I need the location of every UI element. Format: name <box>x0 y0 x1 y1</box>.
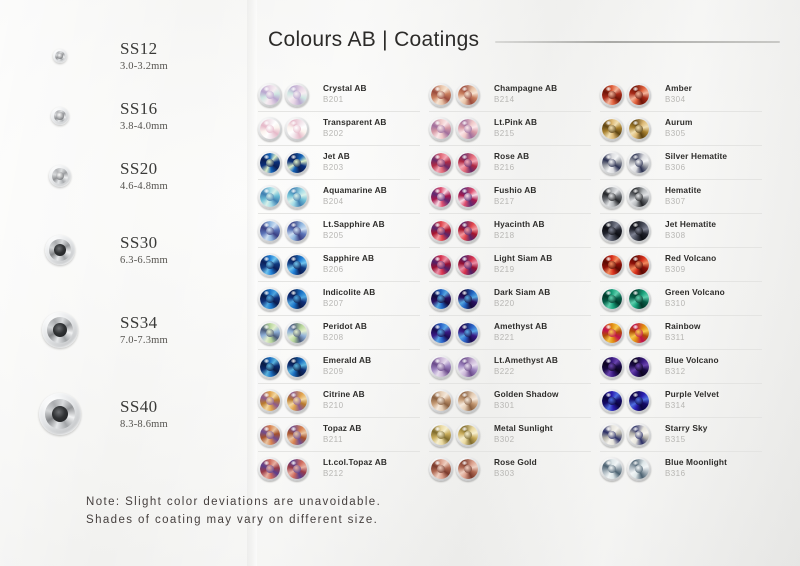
colour-labels: Blue MoonlightB316 <box>658 458 762 479</box>
colour-row[interactable]: Lt.Amethyst ABB222 <box>429 350 591 384</box>
colour-code: B308 <box>665 231 762 241</box>
gem-table <box>635 431 643 439</box>
gem-face <box>458 187 478 207</box>
colour-swatch-gem <box>600 321 624 345</box>
size-dimension: 8.3-8.6mm <box>120 419 168 430</box>
colour-row[interactable]: Aquamarine ABB204 <box>258 180 420 214</box>
colour-name: Aquamarine AB <box>323 186 420 196</box>
colour-labels: Green VolcanoB310 <box>658 288 762 309</box>
gem-face <box>260 85 280 105</box>
gem-table <box>293 193 301 201</box>
colour-labels: Light Siam ABB219 <box>487 254 591 275</box>
gem-pair <box>429 151 487 175</box>
gem-pair <box>600 83 658 107</box>
gem-table <box>437 329 445 337</box>
colour-row[interactable]: Lt.Pink ABB215 <box>429 112 591 146</box>
gem-face <box>602 357 622 377</box>
colour-labels: Silver HematiteB306 <box>658 152 762 173</box>
gem-pair <box>258 389 316 413</box>
colour-labels: Emerald ABB209 <box>316 356 420 377</box>
colour-row[interactable]: Rose GoldB303 <box>429 452 591 485</box>
gem-pair <box>258 219 316 243</box>
colour-labels: Dark Siam ABB220 <box>487 288 591 309</box>
colour-code: B316 <box>665 469 762 479</box>
gem-face <box>458 289 478 309</box>
colour-name: Citrine AB <box>323 390 420 400</box>
gem-table <box>608 363 616 371</box>
colour-swatch-gem <box>258 355 282 379</box>
colour-labels: Lt.col.Topaz ABB212 <box>316 458 420 479</box>
gem-face <box>602 323 622 343</box>
gem-table <box>608 431 616 439</box>
colour-swatch-gem <box>285 355 309 379</box>
colour-swatch-gem <box>429 219 453 243</box>
gem-face <box>602 391 622 411</box>
size-text-block: SS347.0-7.3mm <box>120 314 168 346</box>
gem-face <box>260 391 280 411</box>
gem-pair <box>258 117 316 141</box>
colour-swatch-gem <box>600 253 624 277</box>
colour-name: Peridot AB <box>323 322 420 332</box>
colour-code: B211 <box>323 435 420 445</box>
colour-row[interactable]: HematiteB307 <box>600 180 762 214</box>
gem-pair <box>258 287 316 311</box>
colour-labels: Amethyst ABB221 <box>487 322 591 343</box>
colour-swatch-gem <box>258 151 282 175</box>
colour-name: Light Siam AB <box>494 254 591 264</box>
gem-table <box>608 295 616 303</box>
colour-labels: AurumB305 <box>658 118 762 139</box>
gem-table <box>635 193 643 201</box>
colour-labels: Fushio ABB217 <box>487 186 591 207</box>
gem-table <box>635 125 643 133</box>
colour-columns: Crystal ABB201Transparent ABB202Jet ABB2… <box>258 78 800 485</box>
gem-face <box>602 289 622 309</box>
colour-code: B315 <box>665 435 762 445</box>
colour-code: B311 <box>665 333 762 343</box>
gem-table <box>608 227 616 235</box>
colour-name: Lt.Sapphire AB <box>323 220 420 230</box>
colour-swatch-gem <box>285 83 309 107</box>
colour-code: B214 <box>494 95 591 105</box>
gem-table <box>293 329 301 337</box>
colour-swatch-gem <box>285 253 309 277</box>
colour-swatch-gem <box>627 117 651 141</box>
gem-face <box>602 221 622 241</box>
gem-table <box>437 193 445 201</box>
colour-code: B303 <box>494 469 591 479</box>
gem-table <box>266 363 274 371</box>
colour-name: Crystal AB <box>323 84 420 94</box>
colour-name: Lt.Amethyst AB <box>494 356 591 366</box>
colour-name: Dark Siam AB <box>494 288 591 298</box>
gem-face <box>458 85 478 105</box>
gem-table <box>608 465 616 473</box>
gem-face <box>629 289 649 309</box>
gem-table <box>437 431 445 439</box>
size-name: SS12 <box>120 40 168 59</box>
colour-swatch-gem <box>258 389 282 413</box>
gem-face <box>629 85 649 105</box>
gem-face <box>629 153 649 173</box>
colour-row[interactable]: Jet HematiteB308 <box>600 214 762 248</box>
gem-table <box>293 465 301 473</box>
rhinestone-icon <box>42 312 78 348</box>
colour-row[interactable]: Starry SkyB315 <box>600 418 762 452</box>
gem-table <box>464 159 472 167</box>
colour-labels: Starry SkyB315 <box>658 424 762 445</box>
gem-table <box>293 295 301 303</box>
colour-swatch-gem <box>285 457 309 481</box>
colour-name: Hyacinth AB <box>494 220 591 230</box>
colour-row[interactable]: Light Siam ABB219 <box>429 248 591 282</box>
colour-swatch-gem <box>456 117 480 141</box>
gem-table <box>635 159 643 167</box>
gem-table <box>293 397 301 405</box>
gem-pair <box>429 83 487 107</box>
colour-row[interactable]: Rose ABB216 <box>429 146 591 180</box>
colour-row[interactable]: Red VolcanoB309 <box>600 248 762 282</box>
colour-code: B217 <box>494 197 591 207</box>
colour-swatch-gem <box>600 185 624 209</box>
gem-table <box>437 261 445 269</box>
colour-swatch-gem <box>627 185 651 209</box>
colour-swatch-gem <box>258 287 282 311</box>
gem-face <box>458 323 478 343</box>
colour-code: B310 <box>665 299 762 309</box>
gem-pair <box>258 457 316 481</box>
colour-name: Rose AB <box>494 152 591 162</box>
colour-swatch-gem <box>429 117 453 141</box>
gem-face <box>602 85 622 105</box>
gem-face <box>629 255 649 275</box>
colour-labels: Golden ShadowB301 <box>487 390 591 411</box>
colour-swatch-gem <box>456 83 480 107</box>
gem-face <box>431 119 451 139</box>
gem-pair <box>429 423 487 447</box>
colour-labels: Lt.Sapphire ABB205 <box>316 220 420 241</box>
colour-name: Emerald AB <box>323 356 420 366</box>
gem-face <box>287 357 307 377</box>
gem-face <box>431 357 451 377</box>
gem-pair <box>258 355 316 379</box>
colour-swatch-gem <box>285 151 309 175</box>
colour-row[interactable]: Purple VelvetB314 <box>600 384 762 418</box>
colour-code: B220 <box>494 299 591 309</box>
gem-table <box>464 397 472 405</box>
page-title: Colours AB | Coatings <box>268 28 479 52</box>
gem-table <box>437 159 445 167</box>
colour-row[interactable]: Sapphire ABB206 <box>258 248 420 282</box>
colour-code: B314 <box>665 401 762 411</box>
colour-row[interactable]: Indicolite ABB207 <box>258 282 420 316</box>
gem-table <box>608 397 616 405</box>
gem-face <box>629 187 649 207</box>
gem-table <box>608 329 616 337</box>
colour-code: B202 <box>323 129 420 139</box>
colour-name: Metal Sunlight <box>494 424 591 434</box>
colour-row[interactable]: Hyacinth ABB218 <box>429 214 591 248</box>
colour-name: Silver Hematite <box>665 152 762 162</box>
colour-code: B206 <box>323 265 420 275</box>
gem-pair <box>429 321 487 345</box>
colour-swatch-gem <box>429 423 453 447</box>
gem-table <box>266 193 274 201</box>
colour-swatch-gem <box>258 219 282 243</box>
colour-labels: Rose ABB216 <box>487 152 591 173</box>
gem-pair <box>258 321 316 345</box>
gem-face <box>458 357 478 377</box>
colour-swatch-gem <box>456 287 480 311</box>
colour-swatch-gem <box>429 287 453 311</box>
gem-face <box>602 255 622 275</box>
gem-table <box>266 397 274 405</box>
colour-row[interactable]: Golden ShadowB301 <box>429 384 591 418</box>
gem-face <box>431 221 451 241</box>
colour-row[interactable]: Lt.Sapphire ABB205 <box>258 214 420 248</box>
size-name: SS20 <box>120 160 168 179</box>
size-reference-panel: SS123.0-3.2mmSS163.8-4.0mmSS204.6-4.8mmS… <box>0 0 248 566</box>
gem-pair <box>429 287 487 311</box>
colour-row[interactable]: AurumB305 <box>600 112 762 146</box>
gem-table <box>635 329 643 337</box>
gem-table <box>635 91 643 99</box>
gem-face <box>629 391 649 411</box>
colour-swatch-gem <box>285 219 309 243</box>
gem-table <box>266 295 274 303</box>
gem-face <box>287 425 307 445</box>
colour-row[interactable]: Peridot ABB208 <box>258 316 420 350</box>
title-rule <box>495 41 780 43</box>
gem-face <box>287 221 307 241</box>
gem-face <box>260 289 280 309</box>
colour-swatch-gem <box>627 389 651 413</box>
product-sheet: SS123.0-3.2mmSS163.8-4.0mmSS204.6-4.8mmS… <box>0 0 800 566</box>
gem-table <box>464 465 472 473</box>
gem-table <box>608 261 616 269</box>
colour-swatch-gem <box>627 457 651 481</box>
colour-row[interactable]: Blue MoonlightB316 <box>600 452 762 485</box>
gem-table <box>437 227 445 235</box>
colour-name: Aurum <box>665 118 762 128</box>
rhinestone-icon <box>51 107 69 125</box>
colour-swatch-gem <box>285 423 309 447</box>
note-line-1: Note: Slight color deviations are unavoi… <box>86 494 526 512</box>
colour-labels: Transparent ABB202 <box>316 118 420 139</box>
size-row: SS306.3-6.5mm <box>0 222 248 278</box>
gem-face <box>431 187 451 207</box>
colour-swatch-gem <box>627 321 651 345</box>
colour-code: B209 <box>323 367 420 377</box>
colour-row[interactable]: Silver HematiteB306 <box>600 146 762 180</box>
gem-table <box>464 125 472 133</box>
colour-swatch-gem <box>429 389 453 413</box>
colour-swatch-gem <box>627 355 651 379</box>
colour-row[interactable]: Amethyst ABB221 <box>429 316 591 350</box>
colour-row[interactable]: AmberB304 <box>600 78 762 112</box>
size-row: SS123.0-3.2mm <box>0 28 248 84</box>
colour-row[interactable]: Blue VolcanoB312 <box>600 350 762 384</box>
colour-labels: Citrine ABB210 <box>316 390 420 411</box>
gem-table <box>293 227 301 235</box>
colour-labels: Peridot ABB208 <box>316 322 420 343</box>
gem-face <box>287 323 307 343</box>
gem-table <box>437 363 445 371</box>
gem-pair <box>429 355 487 379</box>
colour-row[interactable]: Citrine ABB210 <box>258 384 420 418</box>
colour-swatch-gem <box>258 253 282 277</box>
gem-pair <box>258 423 316 447</box>
size-dimension: 7.0-7.3mm <box>120 335 168 346</box>
colour-row[interactable]: Dark Siam ABB220 <box>429 282 591 316</box>
colour-name: Red Volcano <box>665 254 762 264</box>
colour-name: Sapphire AB <box>323 254 420 264</box>
size-dimension: 3.0-3.2mm <box>120 61 168 72</box>
colour-swatch-gem <box>429 321 453 345</box>
gem-pair <box>429 253 487 277</box>
size-name: SS16 <box>120 100 168 119</box>
colour-name: Topaz AB <box>323 424 420 434</box>
size-dimension: 3.8-4.0mm <box>120 121 168 132</box>
colour-name: Purple Velvet <box>665 390 762 400</box>
gem-face <box>287 153 307 173</box>
gem-face <box>629 221 649 241</box>
gem-table <box>437 465 445 473</box>
gem-table <box>635 295 643 303</box>
size-text-block: SS204.6-4.8mm <box>120 160 168 192</box>
colour-code: B218 <box>494 231 591 241</box>
gem-face <box>602 187 622 207</box>
gem-table <box>293 363 301 371</box>
colour-name: Champagne AB <box>494 84 591 94</box>
colour-swatch-gem <box>429 151 453 175</box>
size-text-block: SS408.3-8.6mm <box>120 398 168 430</box>
colour-row[interactable]: RainbowB311 <box>600 316 762 350</box>
colour-code: B222 <box>494 367 591 377</box>
gem-table <box>293 91 301 99</box>
colour-swatch-gem <box>627 253 651 277</box>
colour-name: Indicolite AB <box>323 288 420 298</box>
colour-column: Crystal ABB201Transparent ABB202Jet ABB2… <box>258 78 420 485</box>
gem-face <box>431 153 451 173</box>
colour-swatch-gem <box>429 185 453 209</box>
size-row: SS408.3-8.6mm <box>0 386 248 442</box>
gem-table <box>464 295 472 303</box>
gem-face <box>629 459 649 479</box>
gem-table <box>266 465 274 473</box>
gem-pair <box>600 185 658 209</box>
colour-name: Transparent AB <box>323 118 420 128</box>
gem-table <box>464 261 472 269</box>
gem-table <box>608 159 616 167</box>
gem-face <box>431 289 451 309</box>
colour-name: Blue Moonlight <box>665 458 762 468</box>
colour-code: B307 <box>665 197 762 207</box>
colour-name: Lt.col.Topaz AB <box>323 458 420 468</box>
colour-labels: Jet ABB203 <box>316 152 420 173</box>
colour-code: B304 <box>665 95 762 105</box>
colour-labels: Jet HematiteB308 <box>658 220 762 241</box>
size-stone-sample <box>0 49 120 63</box>
gem-table <box>266 431 274 439</box>
gem-face <box>431 425 451 445</box>
colour-row[interactable]: Lt.col.Topaz ABB212 <box>258 452 420 485</box>
colour-row[interactable]: Fushio ABB217 <box>429 180 591 214</box>
colour-code: B221 <box>494 333 591 343</box>
rhinestone-icon <box>49 165 71 187</box>
colour-swatch-gem <box>429 83 453 107</box>
gem-table <box>266 125 274 133</box>
colour-row[interactable]: Emerald ABB209 <box>258 350 420 384</box>
colour-row[interactable]: Green VolcanoB310 <box>600 282 762 316</box>
gem-face <box>458 221 478 241</box>
gem-pair <box>429 185 487 209</box>
gem-table <box>635 397 643 405</box>
gem-table <box>635 465 643 473</box>
gem-face <box>629 425 649 445</box>
size-stone-sample <box>0 235 120 265</box>
colour-code: B312 <box>665 367 762 377</box>
size-row: SS163.8-4.0mm <box>0 88 248 144</box>
colour-swatch-gem <box>456 321 480 345</box>
gem-face <box>431 459 451 479</box>
colour-row[interactable]: Topaz ABB211 <box>258 418 420 452</box>
size-stone-sample <box>0 107 120 125</box>
colour-code: B219 <box>494 265 591 275</box>
colour-row[interactable]: Crystal ABB201 <box>258 78 420 112</box>
gem-face <box>431 85 451 105</box>
colour-swatch-gem <box>627 287 651 311</box>
colour-code: B306 <box>665 163 762 173</box>
size-stone-sample <box>0 393 120 435</box>
colour-row[interactable]: Metal SunlightB302 <box>429 418 591 452</box>
colour-swatch-gem <box>456 219 480 243</box>
gem-face <box>287 391 307 411</box>
gem-face <box>629 119 649 139</box>
size-text-block: SS123.0-3.2mm <box>120 40 168 72</box>
colour-code: B212 <box>323 469 420 479</box>
colour-name: Amber <box>665 84 762 94</box>
colour-row[interactable]: Jet ABB203 <box>258 146 420 180</box>
colour-swatch-gem <box>456 457 480 481</box>
gem-face <box>260 323 280 343</box>
gem-table <box>464 91 472 99</box>
gem-face <box>458 391 478 411</box>
gem-face <box>287 187 307 207</box>
colour-swatch-gem <box>429 355 453 379</box>
colour-swatch-gem <box>600 151 624 175</box>
colour-labels: Crystal ABB201 <box>316 84 420 105</box>
gem-pair <box>600 457 658 481</box>
gem-face <box>602 153 622 173</box>
colour-row[interactable]: Champagne ABB214 <box>429 78 591 112</box>
colour-labels: Aquamarine ABB204 <box>316 186 420 207</box>
gem-table <box>464 193 472 201</box>
colour-swatch-gem <box>456 355 480 379</box>
gem-face <box>287 289 307 309</box>
colour-swatch-gem <box>285 287 309 311</box>
colour-swatch-gem <box>258 117 282 141</box>
gem-pair <box>600 423 658 447</box>
gem-pair <box>258 83 316 107</box>
gem-table <box>608 193 616 201</box>
gem-table <box>635 363 643 371</box>
gem-face <box>260 119 280 139</box>
colour-row[interactable]: Transparent ABB202 <box>258 112 420 146</box>
gem-face <box>458 425 478 445</box>
gem-table <box>266 227 274 235</box>
gem-pair <box>600 151 658 175</box>
